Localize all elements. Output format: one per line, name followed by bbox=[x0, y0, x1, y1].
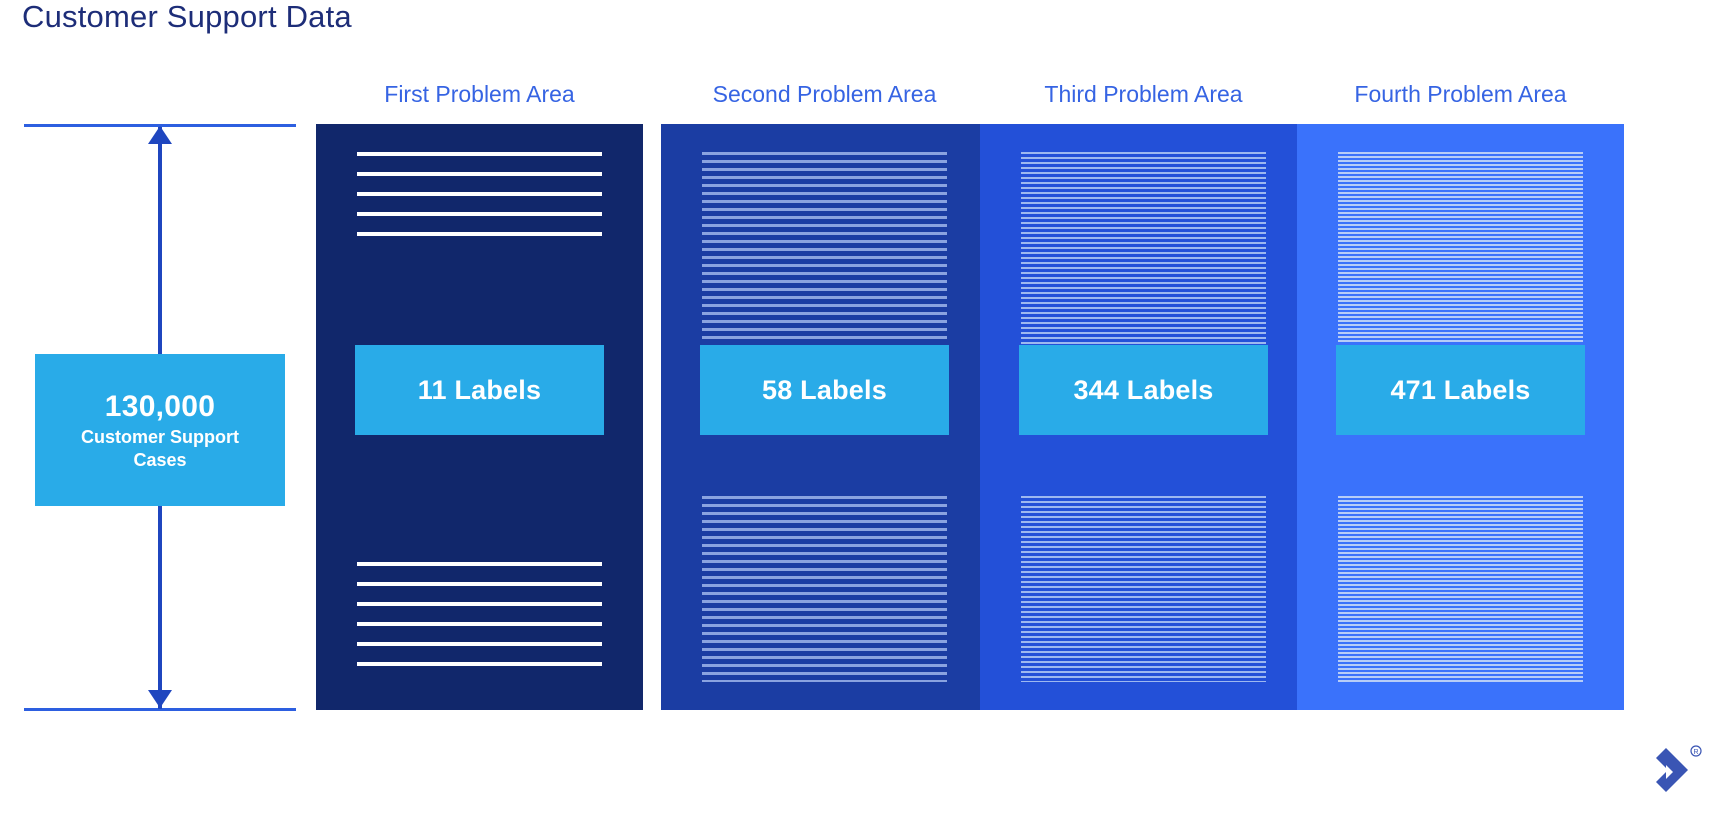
problem-area-panel-1: 11 Labels bbox=[316, 124, 643, 710]
arrow-up-icon bbox=[148, 126, 172, 144]
total-cases-card: 130,000 Customer Support Cases bbox=[35, 354, 285, 506]
stripe-block-upper-4 bbox=[1338, 152, 1583, 344]
total-cases-caption: Customer Support Cases bbox=[60, 426, 260, 472]
stripe-block-lower-3 bbox=[1021, 496, 1266, 682]
problem-area-panel-4: 471 Labels bbox=[1297, 124, 1624, 710]
label-count-chip-1: 11 Labels bbox=[355, 345, 604, 435]
stripe-block-lower-2 bbox=[702, 496, 947, 682]
column-header-4: Fourth Problem Area bbox=[1297, 80, 1624, 108]
arrow-down-icon bbox=[148, 690, 172, 708]
total-bracket-group: 130,000 Customer Support Cases bbox=[0, 0, 310, 814]
stripe-block-upper-2 bbox=[702, 152, 947, 344]
label-count-chip-2: 58 Labels bbox=[700, 345, 949, 435]
stripe-block-lower-1 bbox=[357, 562, 602, 682]
label-count-text-4: 471 Labels bbox=[1390, 375, 1530, 406]
column-header-1: First Problem Area bbox=[316, 80, 643, 108]
label-count-text-1: 11 Labels bbox=[418, 375, 541, 406]
problem-area-panel-3: 344 Labels bbox=[980, 124, 1307, 710]
svg-text:R: R bbox=[1693, 749, 1698, 756]
label-count-chip-3: 344 Labels bbox=[1019, 345, 1268, 435]
problem-area-column-1: First Problem Area 11 Labels bbox=[316, 0, 643, 814]
stripe-block-upper-1 bbox=[357, 152, 602, 252]
column-header-2: Second Problem Area bbox=[661, 80, 988, 108]
stripe-block-upper-3 bbox=[1021, 152, 1266, 344]
problem-area-panel-2: 58 Labels bbox=[661, 124, 988, 710]
problem-area-column-4: Fourth Problem Area 471 Labels bbox=[1297, 0, 1624, 814]
column-header-3: Third Problem Area bbox=[980, 80, 1307, 108]
brand-logo-icon: R bbox=[1640, 744, 1704, 800]
label-count-text-3: 344 Labels bbox=[1073, 375, 1213, 406]
label-count-chip-4: 471 Labels bbox=[1336, 345, 1585, 435]
problem-area-columns: First Problem Area 11 Labels Second Prob… bbox=[316, 0, 1720, 814]
stripe-block-lower-4 bbox=[1338, 496, 1583, 682]
label-count-text-2: 58 Labels bbox=[762, 375, 887, 406]
total-cases-number: 130,000 bbox=[105, 389, 216, 425]
problem-area-column-3: Third Problem Area 344 Labels bbox=[980, 0, 1307, 814]
problem-area-column-2: Second Problem Area 58 Labels bbox=[661, 0, 988, 814]
